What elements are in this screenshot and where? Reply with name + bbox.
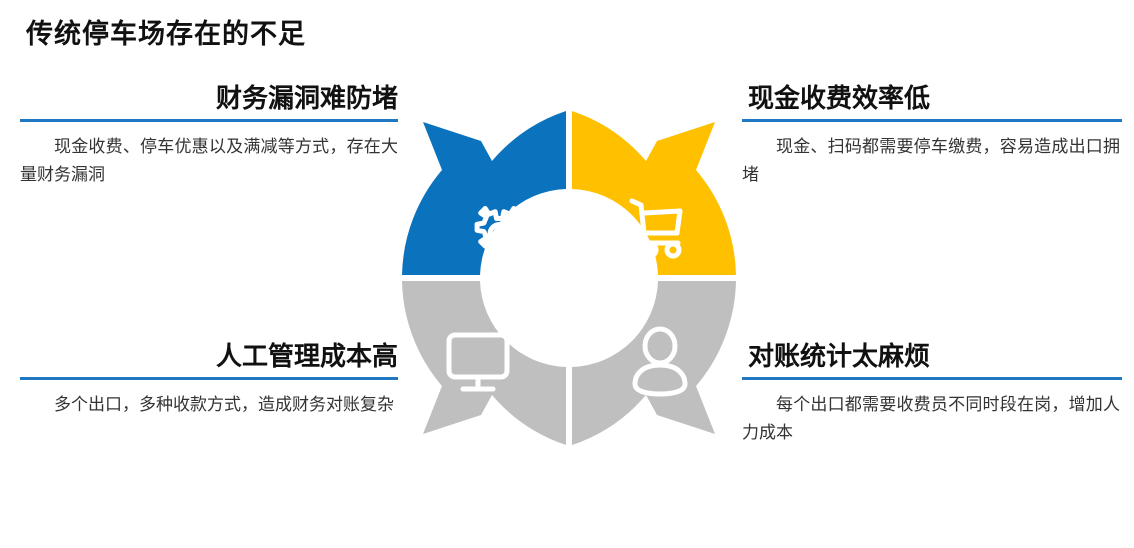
quadrant-heading-top-right: 现金收费效率低 [732, 84, 1114, 113]
quadrant-text-bottom-right: 对账统计太麻烦 每个出口都需要收费员不同时段在岗，增加人力成本 [732, 342, 1114, 446]
quadrant-text-top-left: 财务漏洞难防堵 现金收费、停车优惠以及满减等方式，存在大量财务漏洞 [20, 84, 402, 188]
page-title: 传统停车场存在的不足 [26, 12, 306, 51]
quadrant-underline-top-right [742, 119, 1122, 122]
ring-segment-top-left[interactable] [402, 111, 566, 275]
quadrant-body-top-right: 现金、扫码都需要停车缴费，容易造成出口拥堵 [742, 133, 1120, 188]
quadrant-underline-bottom-right [742, 377, 1122, 380]
ring-diagram-svg [385, 94, 753, 462]
quadrant-body-bottom-left: 多个出口，多种收款方式，造成财务对账复杂 [20, 391, 398, 419]
quadrant-body-top-left: 现金收费、停车优惠以及满减等方式，存在大量财务漏洞 [20, 133, 398, 188]
quadrant-heading-top-left: 财务漏洞难防堵 [20, 84, 402, 113]
quadrant-text-bottom-left: 人工管理成本高 多个出口，多种收款方式，造成财务对账复杂 [20, 342, 402, 419]
ring-segment-bottom-left[interactable] [402, 281, 566, 445]
quadrant-heading-bottom-left: 人工管理成本高 [20, 342, 402, 371]
quadrant-underline-bottom-left [20, 377, 398, 380]
quadrant-underline-top-left [20, 119, 398, 122]
ring-diagram [385, 94, 753, 462]
quadrant-body-bottom-right: 每个出口都需要收费员不同时段在岗，增加人力成本 [742, 391, 1120, 446]
quadrant-heading-bottom-right: 对账统计太麻烦 [732, 342, 1114, 371]
quadrant-text-top-right: 现金收费效率低 现金、扫码都需要停车缴费，容易造成出口拥堵 [732, 84, 1114, 188]
